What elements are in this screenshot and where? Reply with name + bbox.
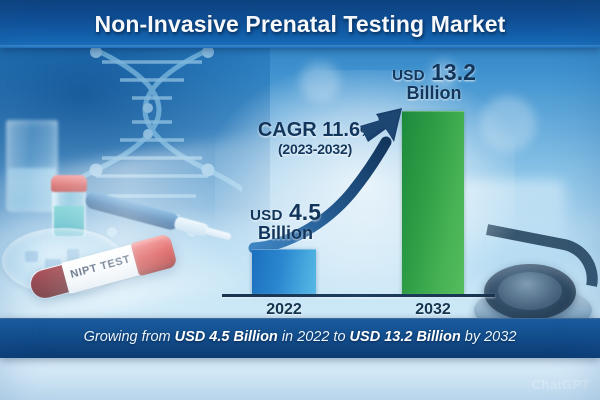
footer-middle: in 2022 to bbox=[278, 329, 350, 345]
footer-caption: Growing from USD 4.5 Billion in 2022 to … bbox=[0, 329, 600, 345]
x-axis-label-2032: 2032 bbox=[373, 301, 493, 319]
x-axis-label-2022: 2022 bbox=[224, 301, 344, 319]
callout-2022-value: 4.5 bbox=[289, 199, 321, 225]
callout-2022-scale: Billion bbox=[233, 224, 338, 243]
footer-to-value: USD 13.2 Billion bbox=[350, 329, 461, 345]
bar-2022[interactable] bbox=[252, 249, 316, 294]
bar-chart: USD 13.2 Billion CAGR 11.6% (2023-2032) bbox=[0, 48, 600, 325]
callout-2022-unit: USD bbox=[250, 207, 283, 224]
bar-2032[interactable] bbox=[402, 111, 464, 294]
footer-band: Growing from USD 4.5 Billion in 2022 to … bbox=[0, 318, 600, 358]
header-band: Non-Invasive Prenatal Testing Market bbox=[0, 0, 600, 48]
chart-baseline bbox=[222, 294, 495, 297]
footer-from-value: USD 4.5 Billion bbox=[175, 329, 278, 345]
callout-2032-line1: USD 13.2 bbox=[368, 61, 500, 84]
page-title: Non-Invasive Prenatal Testing Market bbox=[0, 11, 600, 38]
value-callout-2022: USD 4.5 Billion bbox=[233, 201, 338, 243]
value-callout-2032: USD 13.2 Billion bbox=[368, 61, 500, 103]
callout-2032-unit: USD bbox=[392, 67, 425, 84]
callout-2032-value: 13.2 bbox=[431, 59, 476, 85]
watermark: ChatGPT bbox=[532, 377, 590, 392]
footer-suffix: by 2032 bbox=[461, 329, 517, 345]
footer-prefix: Growing from bbox=[84, 329, 175, 345]
callout-2022-line1: USD 4.5 bbox=[233, 201, 338, 224]
infographic-canvas: NIPT TEST Non-Invasive Prenatal Testing … bbox=[0, 0, 600, 400]
